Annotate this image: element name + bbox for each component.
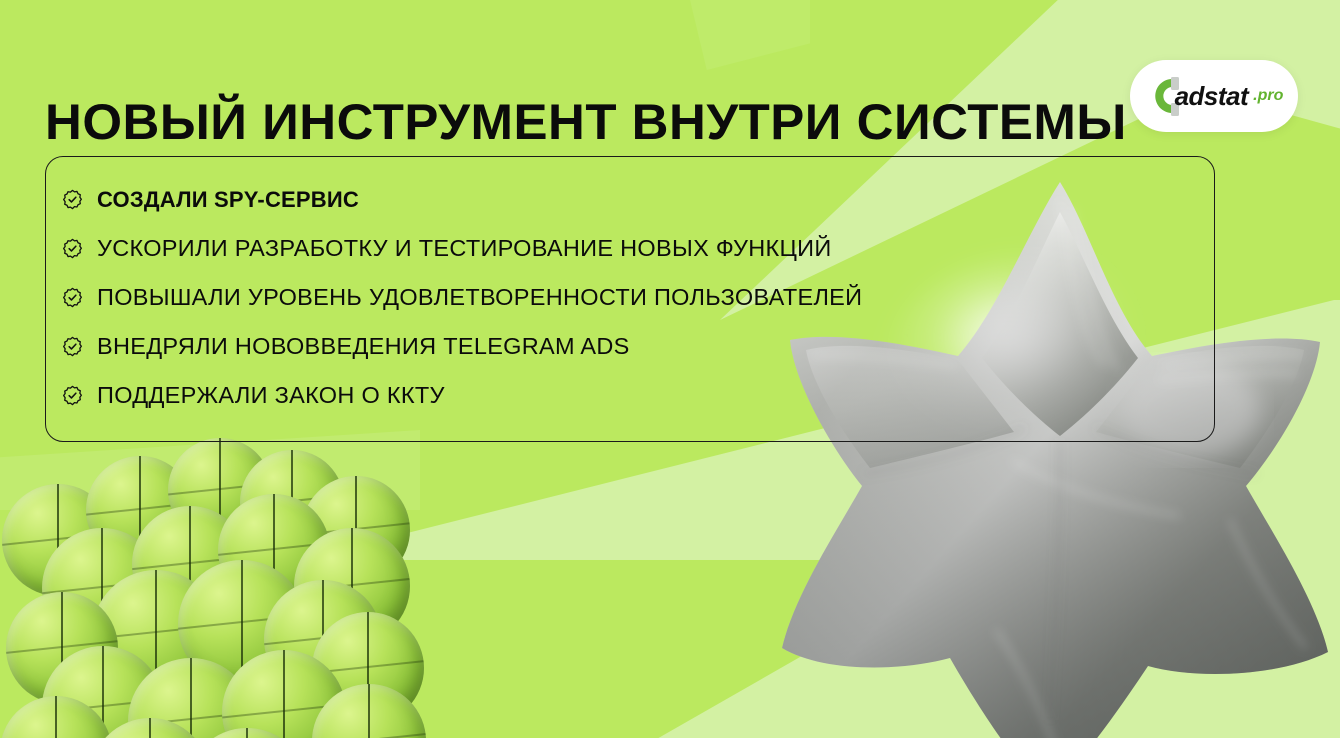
promo-slide: НОВЫЙ ИНСТРУМЕНТ ВНУТРИ СИСТЕМЫ adstat .…: [0, 0, 1340, 738]
list-item[interactable]: ПОВЫШАЛИ УРОВЕНЬ УДОВЛЕТВОРЕННОСТИ ПОЛЬЗ…: [62, 273, 1162, 322]
logo-tld: .pro: [1253, 87, 1283, 105]
brand-logo[interactable]: adstat .pro: [1130, 60, 1298, 132]
verified-badge-icon: [62, 385, 83, 406]
verified-badge-icon: [62, 238, 83, 259]
verified-badge-icon: [62, 287, 83, 308]
logo-wordmark: adstat: [1175, 81, 1249, 112]
page-title: НОВЫЙ ИНСТРУМЕНТ ВНУТРИ СИСТЕМЫ: [45, 94, 1126, 150]
list-item-label: ПОВЫШАЛИ УРОВЕНЬ УДОВЛЕТВОРЕННОСТИ ПОЛЬЗ…: [97, 284, 862, 311]
list-item[interactable]: ВНЕДРЯЛИ НОВОВВЕДЕНИЯ TELEGRAM ADS: [62, 322, 1162, 371]
list-item-label: УСКОРИЛИ РАЗРАБОТКУ И ТЕСТИРОВАНИЕ НОВЫХ…: [97, 235, 832, 262]
highlights-list: СОЗДАЛИ SPY-СЕРВИС УСКОРИЛИ РАЗРАБОТКУ И…: [62, 175, 1162, 420]
list-item[interactable]: СОЗДАЛИ SPY-СЕРВИС: [62, 175, 1162, 224]
verified-badge-icon: [62, 336, 83, 357]
list-item[interactable]: УСКОРИЛИ РАЗРАБОТКУ И ТЕСТИРОВАНИЕ НОВЫХ…: [62, 224, 1162, 273]
list-item[interactable]: ПОДДЕРЖАЛИ ЗАКОН О ККТУ: [62, 371, 1162, 420]
list-item-label: ПОДДЕРЖАЛИ ЗАКОН О ККТУ: [97, 382, 445, 409]
green-ball-cluster: [0, 432, 432, 738]
list-item-label: ВНЕДРЯЛИ НОВОВВЕДЕНИЯ TELEGRAM ADS: [97, 333, 630, 360]
list-item-label: СОЗДАЛИ SPY-СЕРВИС: [97, 187, 359, 213]
verified-badge-icon: [62, 189, 83, 210]
